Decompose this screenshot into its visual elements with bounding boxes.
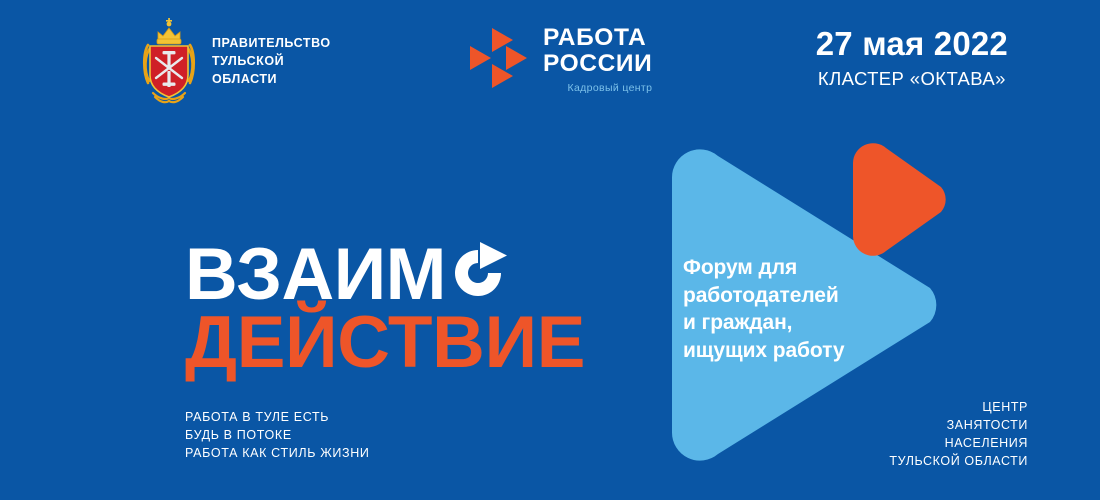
government-logo-text: ПРАВИТЕЛЬСТВО ТУЛЬСКОЙ ОБЛАСТИ bbox=[212, 35, 331, 88]
event-banner: ПРАВИТЕЛЬСТВО ТУЛЬСКОЙ ОБЛАСТИ РАБОТА РО… bbox=[0, 0, 1100, 500]
tula-oblast-coat-of-arms-icon bbox=[140, 15, 198, 109]
work-russia-wordmark: РАБОТА РОССИИ Кадровый центр bbox=[543, 24, 652, 94]
headline-word-top: ВЗАИМ bbox=[185, 244, 446, 306]
orange-triangle-shape bbox=[853, 143, 946, 256]
tagline: РАБОТА В ТУЛЕ ЕСТЬ БУДЬ В ПОТОКЕ РАБОТА … bbox=[185, 409, 370, 462]
four-triangles-mark-icon bbox=[468, 26, 530, 88]
event-date-block: 27 мая 2022 КЛАСТЕР «ОКТАВА» bbox=[816, 27, 1008, 90]
circular-arrow-icon bbox=[447, 242, 509, 304]
crown-icon bbox=[157, 18, 181, 44]
organization-name: ЦЕНТР ЗАНЯТОСТИ НАСЕЛЕНИЯ ТУЛЬСКОЙ ОБЛАС… bbox=[889, 398, 1028, 471]
forum-description: Форум для работодателей и граждан, ищущи… bbox=[683, 254, 844, 364]
work-russia-logo: РАБОТА РОССИИ Кадровый центр bbox=[468, 24, 652, 98]
headline: ВЗАИМ ДЕЙСТВИЕ bbox=[185, 244, 585, 376]
headline-line-1: ВЗАИМ bbox=[185, 244, 585, 306]
work-russia-title: РАБОТА РОССИИ bbox=[543, 25, 652, 77]
headline-word-bottom: ДЕЙСТВИЕ bbox=[185, 310, 585, 376]
government-logo: ПРАВИТЕЛЬСТВО ТУЛЬСКОЙ ОБЛАСТИ bbox=[140, 14, 340, 110]
work-russia-subtitle: Кадровый центр bbox=[543, 82, 652, 94]
event-date: 27 мая 2022 bbox=[816, 27, 1008, 60]
event-venue: КЛАСТЕР «ОКТАВА» bbox=[816, 68, 1008, 90]
